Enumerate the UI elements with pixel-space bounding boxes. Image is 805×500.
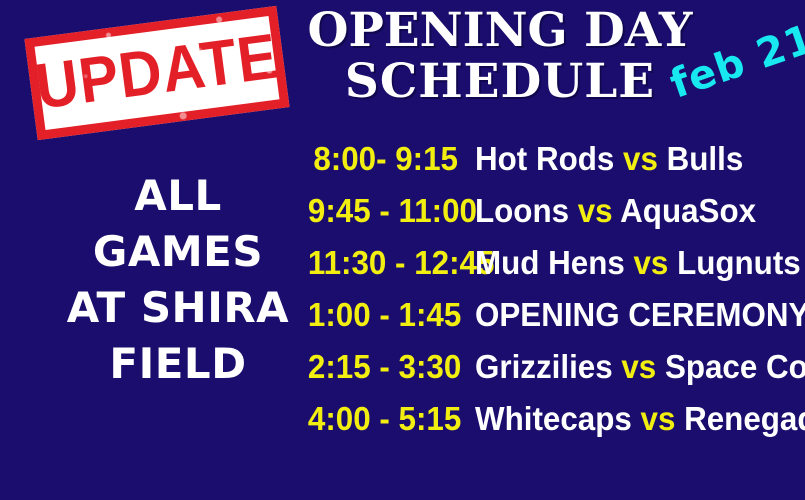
team-away: Space Cowboys — [665, 348, 805, 385]
update-stamp: UPDATE — [24, 6, 289, 140]
schedule-row-time: 1:00 - 1:45 — [308, 289, 458, 341]
schedule-row-match: Grizzilies vs Space Cowboys — [475, 341, 805, 393]
schedule-row-time: 4:00 - 5:15 — [308, 393, 458, 445]
team-away: Bulls — [667, 140, 744, 177]
team-home: Hot Rods — [475, 140, 614, 177]
vs-separator: vs — [632, 400, 684, 437]
schedule-row: 4:00 - 5:15Whitecaps vs Renegades — [300, 393, 805, 445]
schedule-row-match: Loons vs AquaSox — [475, 185, 756, 237]
schedule-list: 8:00- 9:15Hot Rods vs Bulls9:45 - 11:00L… — [300, 133, 805, 445]
title-line-2: SCHEDULE — [300, 57, 700, 108]
venue-line-1: ALL — [18, 168, 338, 224]
team-home: OPENING CEREMONY — [475, 296, 805, 333]
title-line-1: OPENING DAY — [300, 6, 700, 57]
schedule-row: 2:15 - 3:30Grizzilies vs Space Cowboys — [300, 341, 805, 393]
schedule-row-time: 2:15 - 3:30 — [308, 341, 458, 393]
schedule-row: 8:00- 9:15Hot Rods vs Bulls — [300, 133, 805, 185]
schedule-row: 11:30 - 12:45Mud Hens vs Lugnuts — [300, 237, 805, 289]
team-away: Renegades — [684, 400, 805, 437]
schedule-row-match: OPENING CEREMONY — [475, 289, 805, 341]
team-home: Whitecaps — [475, 400, 632, 437]
schedule-row-time: 8:00- 9:15 — [308, 133, 458, 185]
vs-separator: vs — [569, 192, 620, 229]
poster-canvas: UPDATE OPENING DAY SCHEDULE feb 21 ALL G… — [0, 0, 805, 500]
vs-separator: vs — [614, 140, 666, 177]
schedule-row-match: Mud Hens vs Lugnuts — [475, 237, 801, 289]
venue-line-3: AT SHIRA — [18, 280, 338, 336]
schedule-row-time: 11:30 - 12:45 — [308, 237, 458, 289]
venue-block: ALL GAMES AT SHIRA FIELD — [18, 168, 338, 391]
schedule-row-match: Whitecaps vs Renegades — [475, 393, 805, 445]
team-away: AquaSox — [620, 192, 756, 229]
vs-separator: vs — [625, 244, 677, 281]
stamp-label: UPDATE — [35, 7, 280, 139]
team-home: Grizzilies — [475, 348, 613, 385]
team-home: Loons — [475, 192, 569, 229]
schedule-row: 1:00 - 1:45OPENING CEREMONY — [300, 289, 805, 341]
team-away: Lugnuts — [677, 244, 801, 281]
team-home: Mud Hens — [475, 244, 625, 281]
venue-line-2: GAMES — [18, 224, 338, 280]
schedule-row-match: Hot Rods vs Bulls — [475, 133, 743, 185]
venue-line-4: FIELD — [18, 336, 338, 392]
page-title: OPENING DAY SCHEDULE — [300, 6, 700, 108]
schedule-row-time: 9:45 - 11:00 — [308, 185, 458, 237]
vs-separator: vs — [613, 348, 665, 385]
schedule-row: 9:45 - 11:00Loons vs AquaSox — [300, 185, 805, 237]
